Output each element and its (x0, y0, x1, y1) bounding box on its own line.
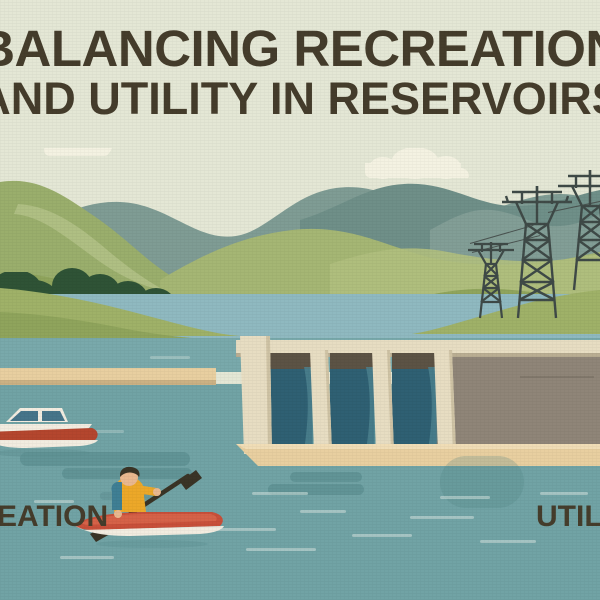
dam-base-apron (236, 444, 600, 474)
title-line-1: BALANCING RECREATION (0, 23, 600, 75)
dam-pier-3 (430, 350, 460, 454)
pylon-far-right (556, 162, 600, 292)
water-ripple-13 (480, 540, 536, 543)
dam-concrete-seam (520, 376, 594, 378)
dam-pier-2 (368, 350, 398, 454)
label-utility: UTILITY (536, 500, 600, 534)
dam-pier-left-abutment (236, 336, 276, 456)
poster-illustration: RECREATION UTILITY BALANCING RECREATION … (0, 0, 600, 600)
water-ripple-6 (440, 496, 490, 499)
water-shadow-3 (290, 472, 362, 482)
water-ripple-4 (410, 516, 474, 519)
water-ripple-8 (540, 492, 588, 495)
sand-bank-left-shadow (0, 380, 216, 385)
motorboat (0, 398, 116, 458)
dam-water-curtains (260, 353, 450, 453)
water-ripple-12 (150, 356, 190, 359)
water-ripple-9 (352, 534, 412, 537)
water-ripple-2 (252, 492, 308, 495)
water-ripple-7 (246, 548, 316, 551)
title-line-2: AND UTILITY IN RESERVOIRS (0, 76, 600, 122)
title-banner: BALANCING RECREATION AND UTILITY IN RESE… (0, 0, 600, 148)
water-ripple-10 (60, 556, 114, 559)
dam-pier-1 (306, 350, 336, 454)
label-recreation: RECREATION (0, 500, 108, 534)
water-ripple-3 (300, 510, 346, 513)
dam-crest-deck (236, 340, 600, 353)
water-shadow-5 (440, 456, 524, 508)
